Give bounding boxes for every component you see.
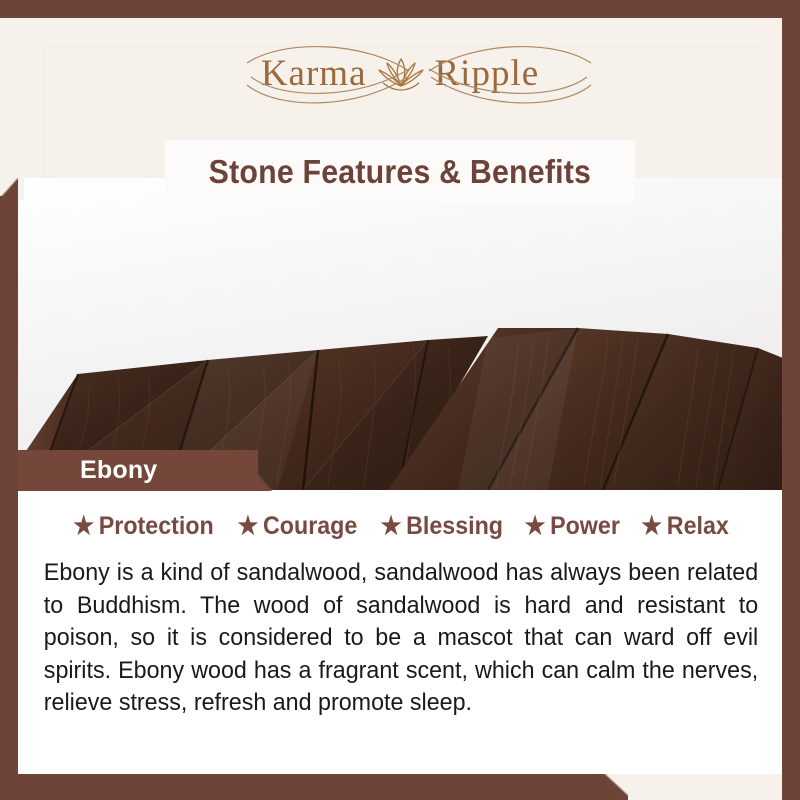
frame-top-bar bbox=[0, 0, 800, 18]
feature-label: Power bbox=[551, 512, 621, 541]
content-panel: ★ Protection ★ Courage ★ Blessing ★ Powe… bbox=[18, 490, 782, 774]
star-icon: ★ bbox=[380, 514, 401, 539]
frame-right-bar bbox=[782, 0, 800, 800]
feature-list: ★ Protection ★ Courage ★ Blessing ★ Powe… bbox=[40, 490, 760, 541]
feature-item-relax: ★ Relax bbox=[641, 512, 729, 541]
page-title: Stone Features & Benefits bbox=[209, 153, 592, 191]
feature-label: Relax bbox=[667, 512, 729, 541]
logo-flourish-ornament bbox=[239, 39, 599, 109]
frame-top-left-notch bbox=[0, 0, 24, 200]
page-title-band: Stone Features & Benefits bbox=[165, 140, 635, 203]
product-name-banner-bevel bbox=[238, 450, 272, 491]
feature-item-protection: ★ Protection bbox=[73, 512, 213, 541]
star-icon: ★ bbox=[238, 514, 259, 539]
brand-logo: Karma Ripple bbox=[0, 34, 800, 112]
product-description: Ebony is a kind of sandalwood, sandalwoo… bbox=[40, 557, 758, 720]
star-icon: ★ bbox=[73, 514, 94, 539]
feature-label: Blessing bbox=[406, 512, 503, 541]
ebony-wood-planks-photo bbox=[18, 178, 782, 490]
wood-photo-illustration bbox=[18, 178, 782, 490]
frame-bottom-bevel bbox=[600, 774, 628, 800]
feature-label: Protection bbox=[99, 512, 214, 541]
product-name-banner: Ebony bbox=[18, 450, 258, 491]
feature-label: Courage bbox=[263, 512, 357, 541]
frame-bottom-bar bbox=[0, 774, 608, 800]
star-icon: ★ bbox=[525, 514, 546, 539]
poster-page: Karma Ripple bbox=[0, 0, 800, 800]
frame-left-bar bbox=[0, 196, 18, 800]
feature-item-courage: ★ Courage bbox=[238, 512, 358, 541]
feature-item-blessing: ★ Blessing bbox=[380, 512, 502, 541]
feature-item-power: ★ Power bbox=[525, 512, 620, 541]
frame-left-bevel bbox=[0, 178, 18, 198]
star-icon: ★ bbox=[641, 514, 662, 539]
product-name-label: Ebony bbox=[80, 456, 157, 485]
